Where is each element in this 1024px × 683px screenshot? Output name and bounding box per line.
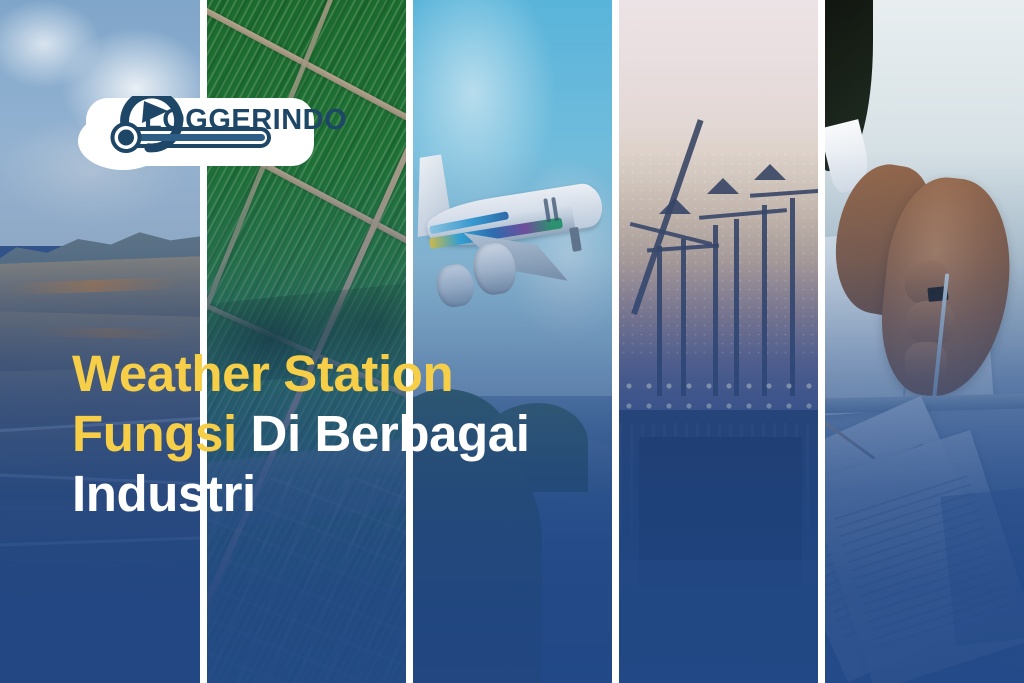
headline-plain-3: Industri: [72, 465, 256, 522]
crane-apex: [659, 198, 691, 214]
landing-gear: [569, 227, 582, 252]
airplane-engine: [434, 263, 476, 310]
panel-divider: [612, 0, 619, 683]
crane-leg: [713, 225, 718, 396]
aviation-artwork: [413, 0, 612, 683]
airplane-nose: [568, 183, 605, 229]
crane-leg: [734, 219, 739, 397]
crane-apex: [754, 164, 786, 180]
port-artwork: [619, 0, 818, 683]
airplane-icon: [413, 136, 612, 314]
banner-root: LOGGERINDO Weather Station Fungsi Di Ber…: [0, 0, 1024, 683]
harbour-water: [619, 560, 818, 683]
crane-leg: [762, 205, 767, 396]
headline-accent-2: Fungsi: [72, 405, 251, 462]
mine-terrace: [0, 579, 200, 683]
loggerindo-logo[interactable]: LOGGERINDO: [78, 96, 316, 172]
paper-card: [941, 488, 1024, 646]
panel-divider: [406, 0, 413, 683]
headline-line-2: Fungsi Di Berbagai: [72, 404, 692, 464]
headline-accent-1: Weather Station: [72, 345, 453, 402]
headline-line-1: Weather Station: [72, 344, 692, 404]
panel-port: [619, 0, 818, 683]
office-artwork: [825, 0, 1024, 683]
panel-office: [825, 0, 1024, 683]
crane-apex: [707, 178, 739, 194]
logo-wordmark: LOGGERINDO: [144, 104, 347, 137]
headline-plain-2: Di Berbagai: [251, 405, 530, 462]
crane-leg: [790, 198, 795, 396]
headline-line-3: Industri: [72, 464, 692, 524]
panel-aviation: [413, 0, 612, 683]
page-title: Weather Station Fungsi Di Berbagai Indus…: [72, 344, 692, 524]
panel-divider: [818, 0, 825, 683]
finger: [906, 300, 955, 346]
